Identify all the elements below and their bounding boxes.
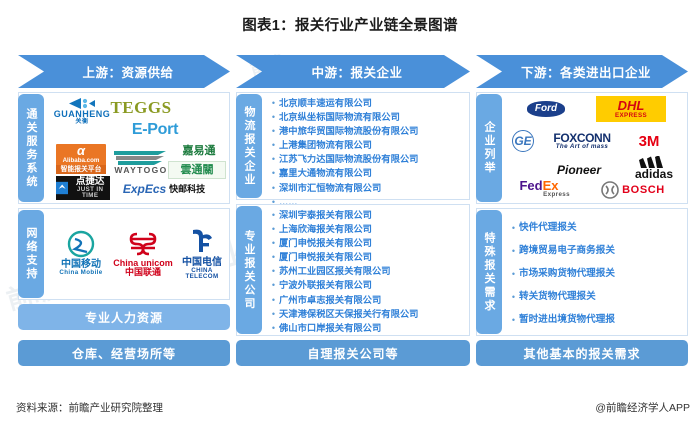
bullet-dot: • <box>508 268 519 280</box>
bosch-logo-text: BOSCH <box>622 185 665 196</box>
ford-logo: Ford <box>516 96 576 122</box>
foxconn-logo: FOXCONN The Art of mass <box>540 128 624 154</box>
3m-logo-text: 3M <box>639 134 660 149</box>
upstream-warehouse-bar: 仓库、经营场所等 <box>18 340 230 366</box>
bullet-dot: • <box>268 322 279 334</box>
midstream-group1-tab-label: 物流报关企业 <box>241 106 257 187</box>
china-telecom-logo: 中国电信 CHINA TELECOM <box>176 218 228 288</box>
chevron-downstream: 下游：各类进出口企业 <box>476 55 688 88</box>
upstream-group1-tab: 通关服务系统 <box>18 94 44 202</box>
downstream-group2-tab: 特殊报关需求 <box>476 210 502 334</box>
foxconn-logo-sub: The Art of mass <box>556 144 609 150</box>
upstream-warehouse-label: 仓库、经营场所等 <box>72 345 176 362</box>
expecs-logo-text: ExpEcs <box>123 183 166 195</box>
downstream-group2-tab-label: 特殊报关需求 <box>481 232 497 313</box>
bullet-dot: • <box>268 223 279 235</box>
fedex-fed-text: Fed <box>519 178 542 193</box>
list-item: •北京纵坐标国际物流有限公司 <box>268 111 418 123</box>
chevron-midstream: 中游：报关企业 <box>236 55 470 88</box>
list-item: •天津港保税区天保报关行有限公司 <box>268 308 418 320</box>
list-item: •嘉里大通物流有限公司 <box>268 167 418 179</box>
alibaba-logo-text: Alibaba.com <box>63 157 100 165</box>
chain-header-band: 上游：资源供给 中游：报关企业 下游：各类进出口企业 <box>0 55 700 88</box>
fedex-logo: FedEx Express <box>508 176 570 202</box>
china-mobile-logo: 中国移动 China Mobile <box>52 218 110 288</box>
bullet-dot: • <box>268 308 279 320</box>
ford-logo-text: Ford <box>527 101 565 117</box>
midstream-self-declaration-label: 自理报关公司等 <box>307 345 398 362</box>
midstream-logistics-list: •北京顺丰速运有限公司 •北京纵坐标国际物流有限公司 •港中旅华贸国际物流股份有… <box>268 97 418 210</box>
waytogo-stripes-icon <box>114 150 168 166</box>
list-item: •跨境贸易电子商务报关 <box>508 245 615 257</box>
list-item-label: 北京顺丰速运有限公司 <box>279 97 372 109</box>
expecs-logo-sub: 快邮科技 <box>169 185 205 194</box>
bullet-dot: • <box>268 111 279 123</box>
list-item: •深圳宇泰报关有限公司 <box>268 209 418 221</box>
list-item-label: 苏州工业园区报关有限公司 <box>279 265 391 277</box>
bosch-mark-icon <box>601 181 619 199</box>
list-item: •暂时进出境货物代理报 <box>508 314 615 326</box>
list-item-label: 港中旅华贸国际物流股份有限公司 <box>279 125 418 137</box>
upstream-group2-tab-label: 网络支持 <box>23 227 39 281</box>
source-note: 资料来源：前瞻产业研究院整理 <box>16 400 163 415</box>
list-item-label: 宁波外联报关有限公司 <box>279 279 372 291</box>
alibaba-smile-icon: α <box>77 144 85 157</box>
list-item-label: 嘉里大通物流有限公司 <box>279 167 372 179</box>
bullet-dot: • <box>268 139 279 151</box>
teggs-logo: TEGGS <box>110 96 172 118</box>
list-item-label: 上海欣海报关有限公司 <box>279 223 372 235</box>
midstream-group2-tab: 专业报关公司 <box>236 206 262 334</box>
yuntongguan-logo: 雲通關 <box>168 161 226 179</box>
midstream-group1-tab: 物流报关企业 <box>236 94 262 198</box>
downstream-other-demand-label: 其他基本的报关需求 <box>523 345 640 362</box>
guanheng-fish-icon <box>67 97 97 110</box>
teggs-logo-text: TEGGS <box>110 99 171 116</box>
bullet-dot: • <box>508 314 519 326</box>
guanheng-logo: GUANHENG 关衡 <box>56 96 108 126</box>
fedex-logo-sub: Express <box>543 192 570 198</box>
list-item-label: 厦门申悦报关有限公司 <box>279 237 372 249</box>
bullet-dot: • <box>268 265 279 277</box>
list-item: •厦门申悦报关有限公司 <box>268 251 418 263</box>
list-item-label: 深圳市汇恒物流有限公司 <box>279 182 381 194</box>
bullet-dot: • <box>268 97 279 109</box>
dhl-logo-sub: EXPRESS <box>615 113 647 119</box>
list-item-label: 天津港保税区天保报关行有限公司 <box>279 308 418 320</box>
china-telecom-logo-sub: CHINA TELECOM <box>176 268 228 280</box>
bullet-dot: • <box>268 153 279 165</box>
bullet-dot: • <box>508 245 519 257</box>
list-item: •广州市卓志报关有限公司 <box>268 294 418 306</box>
list-item: •快件代理报关 <box>508 222 615 234</box>
bullet-dot: • <box>508 291 519 303</box>
chevron-midstream-label: 中游：报关企业 <box>311 62 402 81</box>
list-item-label: 厦门申悦报关有限公司 <box>279 251 372 263</box>
list-item-label: 市场采购货物代理报关 <box>519 268 615 280</box>
china-telecom-mark-icon <box>187 226 217 256</box>
bullet-dot: • <box>508 222 519 234</box>
list-item: •上海欣海报关有限公司 <box>268 223 418 235</box>
upstream-human-resource-bar: 专业人力资源 <box>18 304 230 330</box>
downstream-group1-tab: 企业列举 <box>476 94 502 202</box>
alibaba-logo: α Alibaba.com 智能报关平台 <box>56 144 106 174</box>
waytogo-logo-text: WAYTOGO <box>114 166 167 175</box>
list-item-label: 暂时进出境货物代理报 <box>519 314 615 326</box>
app-credit: @前瞻经济学人APP <box>595 400 690 415</box>
bullet-dot: • <box>268 251 279 263</box>
list-item: •厦门申悦报关有限公司 <box>268 237 418 249</box>
downstream-other-demand-bar: 其他基本的报关需求 <box>476 340 688 366</box>
dianjieda-logo: 点捷达 JUST IN TIME <box>56 176 110 200</box>
eport-logo: E-Port <box>124 120 186 140</box>
china-unicom-logo-text: 中国联通 <box>125 268 161 277</box>
bullet-dot: • <box>268 237 279 249</box>
pioneer-logo-text: Pioneer <box>557 164 601 176</box>
dianjieda-logo-sub: JUST IN TIME <box>70 187 110 199</box>
midstream-self-declaration-bar: 自理报关公司等 <box>236 340 470 366</box>
3m-logo: 3M <box>632 128 666 154</box>
bosch-logo: BOSCH <box>590 178 676 202</box>
upstream-human-resource-label: 专业人力资源 <box>85 309 163 326</box>
china-mobile-logo-sub: China Mobile <box>59 270 102 276</box>
china-unicom-logo: China unicom 中国联通 <box>112 218 174 288</box>
dhl-logo: DHL EXPRESS <box>596 96 666 122</box>
china-mobile-mark-icon <box>67 230 95 258</box>
list-item-label: 跨境贸易电子商务报关 <box>519 245 615 257</box>
jiayitong-logo-text: 嘉易通 <box>183 146 216 157</box>
list-item-label: 佛山市口岸报关有限公司 <box>279 322 381 334</box>
list-item: •深圳市汇恒物流有限公司 <box>268 182 418 194</box>
midstream-professional-list: •深圳宇泰报关有限公司 •上海欣海报关有限公司 •厦门申悦报关有限公司 •厦门申… <box>268 209 418 350</box>
list-item: •江苏飞力达国际物流股份有限公司 <box>268 153 418 165</box>
ge-logo-text: GE <box>512 130 534 152</box>
waytogo-logo: WAYTOGO <box>112 146 170 174</box>
downstream-group1-tab-label: 企业列举 <box>481 121 497 175</box>
list-item-label: 北京纵坐标国际物流有限公司 <box>279 111 400 123</box>
alibaba-logo-sub: 智能报关平台 <box>56 165 106 174</box>
list-item-label: 深圳宇泰报关有限公司 <box>279 209 372 221</box>
yuntongguan-logo-text: 雲通關 <box>181 165 214 176</box>
list-item: •港中旅华贸国际物流股份有限公司 <box>268 125 418 137</box>
list-item: •上港集团物流有限公司 <box>268 139 418 151</box>
expecs-logo: ExpEcs 快邮科技 <box>114 178 214 200</box>
list-item-label: 广州市卓志报关有限公司 <box>279 294 381 306</box>
bullet-dot: • <box>268 167 279 179</box>
list-item-label: 快件代理报关 <box>519 222 577 234</box>
upstream-group1-tab-label: 通关服务系统 <box>23 108 39 189</box>
chevron-upstream-label: 上游：资源供给 <box>82 62 173 81</box>
china-unicom-mark-icon <box>127 229 159 257</box>
midstream-group2-tab-label: 专业报关公司 <box>241 230 257 311</box>
chevron-upstream: 上游：资源供给 <box>18 55 230 88</box>
upstream-group2-tab: 网络支持 <box>18 210 44 298</box>
page-title: 图表1：报关行业产业链全景图谱 <box>0 14 700 35</box>
list-item-label: 江苏飞力达国际物流股份有限公司 <box>279 153 418 165</box>
bullet-dot: • <box>268 182 279 194</box>
guanheng-logo-sub: 关衡 <box>75 119 88 125</box>
bullet-dot: • <box>268 279 279 291</box>
bullet-dot: • <box>268 294 279 306</box>
chevron-downstream-label: 下游：各类进出口企业 <box>521 62 651 81</box>
list-item-label: 转关货物代理报关 <box>519 291 596 303</box>
ge-logo: GE <box>510 128 536 154</box>
list-item-label: 上港集团物流有限公司 <box>279 139 372 151</box>
dhl-logo-text: DHL <box>618 99 645 113</box>
jiayitong-logo: 嘉易通 <box>172 142 226 160</box>
list-item: •宁波外联报关有限公司 <box>268 279 418 291</box>
dianjieda-mark-icon <box>56 181 68 195</box>
bullet-dot: • <box>268 125 279 137</box>
list-item: •北京顺丰速运有限公司 <box>268 97 418 109</box>
list-item: •苏州工业园区报关有限公司 <box>268 265 418 277</box>
eport-logo-text: E-Port <box>132 122 178 138</box>
bullet-dot: • <box>268 209 279 221</box>
list-item: •转关货物代理报关 <box>508 291 615 303</box>
list-item: •市场采购货物代理报关 <box>508 268 615 280</box>
downstream-special-list: •快件代理报关 •跨境贸易电子商务报关 •市场采购货物代理报关 •转关货物代理报… <box>508 222 615 328</box>
list-item: •佛山市口岸报关有限公司 <box>268 322 418 334</box>
